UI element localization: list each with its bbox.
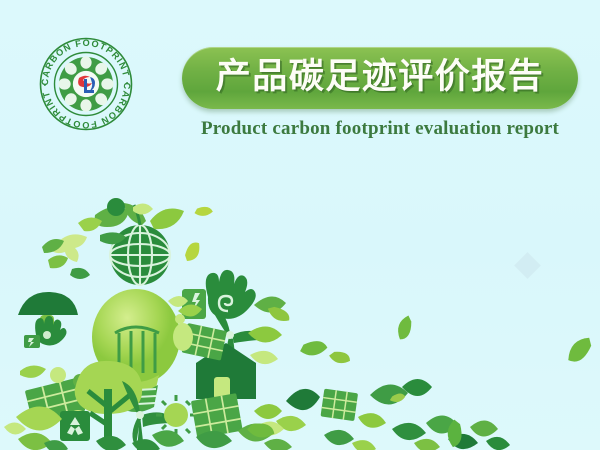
cover-slide: CARBON FOOTPRINT · CARBON FOOTPRINT · [0,0,600,450]
page-subtitle: Product carbon footprint evaluation repo… [182,118,578,140]
logo: CARBON FOOTPRINT · CARBON FOOTPRINT · [38,36,134,132]
title-banner: 产品碳足迹评价报告 [182,47,578,109]
eco-footprint-illustration [0,185,600,450]
eco-icon-collage-icon [0,185,600,450]
recycle-icon [42,234,90,279]
sprout-leaf-icon [124,203,184,229]
page-title: 产品碳足迹评价报告 [216,60,545,97]
battery-icon [24,335,40,348]
footprint-icon [173,314,193,351]
solar-panel-br-icon [321,389,359,421]
recycle-box-icon [60,411,90,441]
sun-icon [156,395,196,435]
carbon-footprint-seal-icon: CARBON FOOTPRINT · CARBON FOOTPRINT · [38,36,134,132]
